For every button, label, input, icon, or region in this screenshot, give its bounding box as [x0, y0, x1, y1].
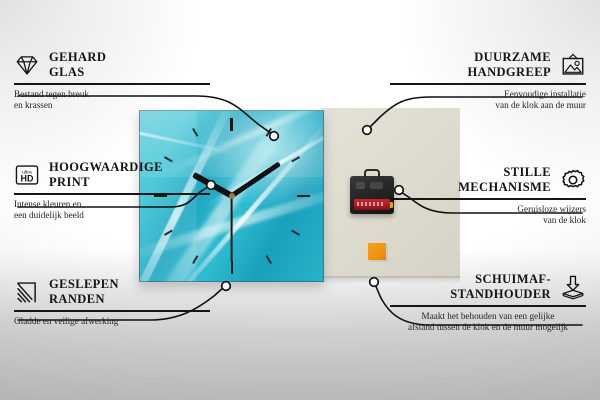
feature-desc-line2: en krassen [14, 100, 210, 111]
feature-title-line1: HOOGWAARDIGE [49, 160, 163, 175]
feature-desc-line1: Eenvoudige installatie [390, 89, 586, 100]
press-down-arrow-icon [560, 274, 586, 300]
picture-frame-icon [560, 52, 586, 78]
diamond-icon [14, 52, 40, 78]
feature-title-line1: DUURZAME [468, 50, 551, 65]
ultra-hd-icon-main-text: HD [21, 174, 34, 184]
feature-duurzame-handgreep: DUURZAME HANDGREEP Eenvoudige installati… [390, 50, 586, 111]
feature-title-line2: PRINT [49, 175, 163, 190]
feature-title-line1: STILLE [458, 165, 551, 180]
feature-stille-mechanisme: STILLE MECHANISME Geruisloze wijzers van… [390, 165, 586, 226]
feature-title-line2: MECHANISME [458, 180, 551, 195]
movement-knob [356, 182, 365, 189]
feature-title-line1: GESLEPEN [49, 277, 119, 292]
feature-divider [390, 198, 586, 200]
feature-desc-line2: van de klok [390, 215, 586, 226]
feature-divider [390, 305, 586, 307]
feature-desc-line1: Geruisloze wijzers [390, 204, 586, 215]
movement-knob [370, 182, 383, 189]
feature-desc-line1: Intense kleuren en [14, 199, 210, 210]
movement-hanger [364, 169, 380, 178]
feature-title-line1: GEHARD [49, 50, 106, 65]
aa-battery [354, 199, 390, 210]
gear-icon [560, 167, 586, 193]
ultra-hd-icon: ultra HD [14, 162, 40, 188]
clock-movement [350, 176, 394, 214]
feature-desc-line1: Bestand tegen breuk [14, 89, 210, 100]
feature-geslepen-randen: GESLEPEN RANDEN Gladde en veilige afwerk… [14, 277, 210, 327]
feature-title-line1: SCHUIMAF- [450, 272, 551, 287]
feature-divider [14, 83, 210, 85]
feature-desc-line2: van de klok aan de muur [390, 100, 586, 111]
feature-desc-line2: afstand tussen de klok en de muur mogeli… [390, 322, 586, 333]
feature-desc-line1: Maakt het behouden van een gelijke [390, 311, 586, 322]
feature-desc-line2: een duidelijk beeld [14, 210, 210, 221]
feature-divider [14, 310, 210, 312]
feature-hoogwaardige-print: ultra HD HOOGWAARDIGE PRINT Intense kleu… [14, 160, 210, 221]
feature-title-line2: HANDGREEP [468, 65, 551, 80]
feature-schuimaf-standhouder: SCHUIMAF- STANDHOUDER Maakt het behouden… [390, 272, 586, 333]
feature-gehard-glas: GEHARD GLAS Bestand tegen breuk en krass… [14, 50, 210, 111]
foam-spacer-pad [368, 243, 386, 260]
feature-desc-line1: Gladde en veilige afwerking [14, 316, 210, 327]
bevelled-edge-icon [14, 279, 40, 305]
feature-title-line2: GLAS [49, 65, 106, 80]
feature-divider [14, 193, 210, 195]
feature-divider [390, 83, 586, 85]
infographic-canvas: GEHARD GLAS Bestand tegen breuk en krass… [0, 0, 600, 400]
feature-title-line2: RANDEN [49, 292, 119, 307]
feature-title-line2: STANDHOUDER [450, 287, 551, 302]
